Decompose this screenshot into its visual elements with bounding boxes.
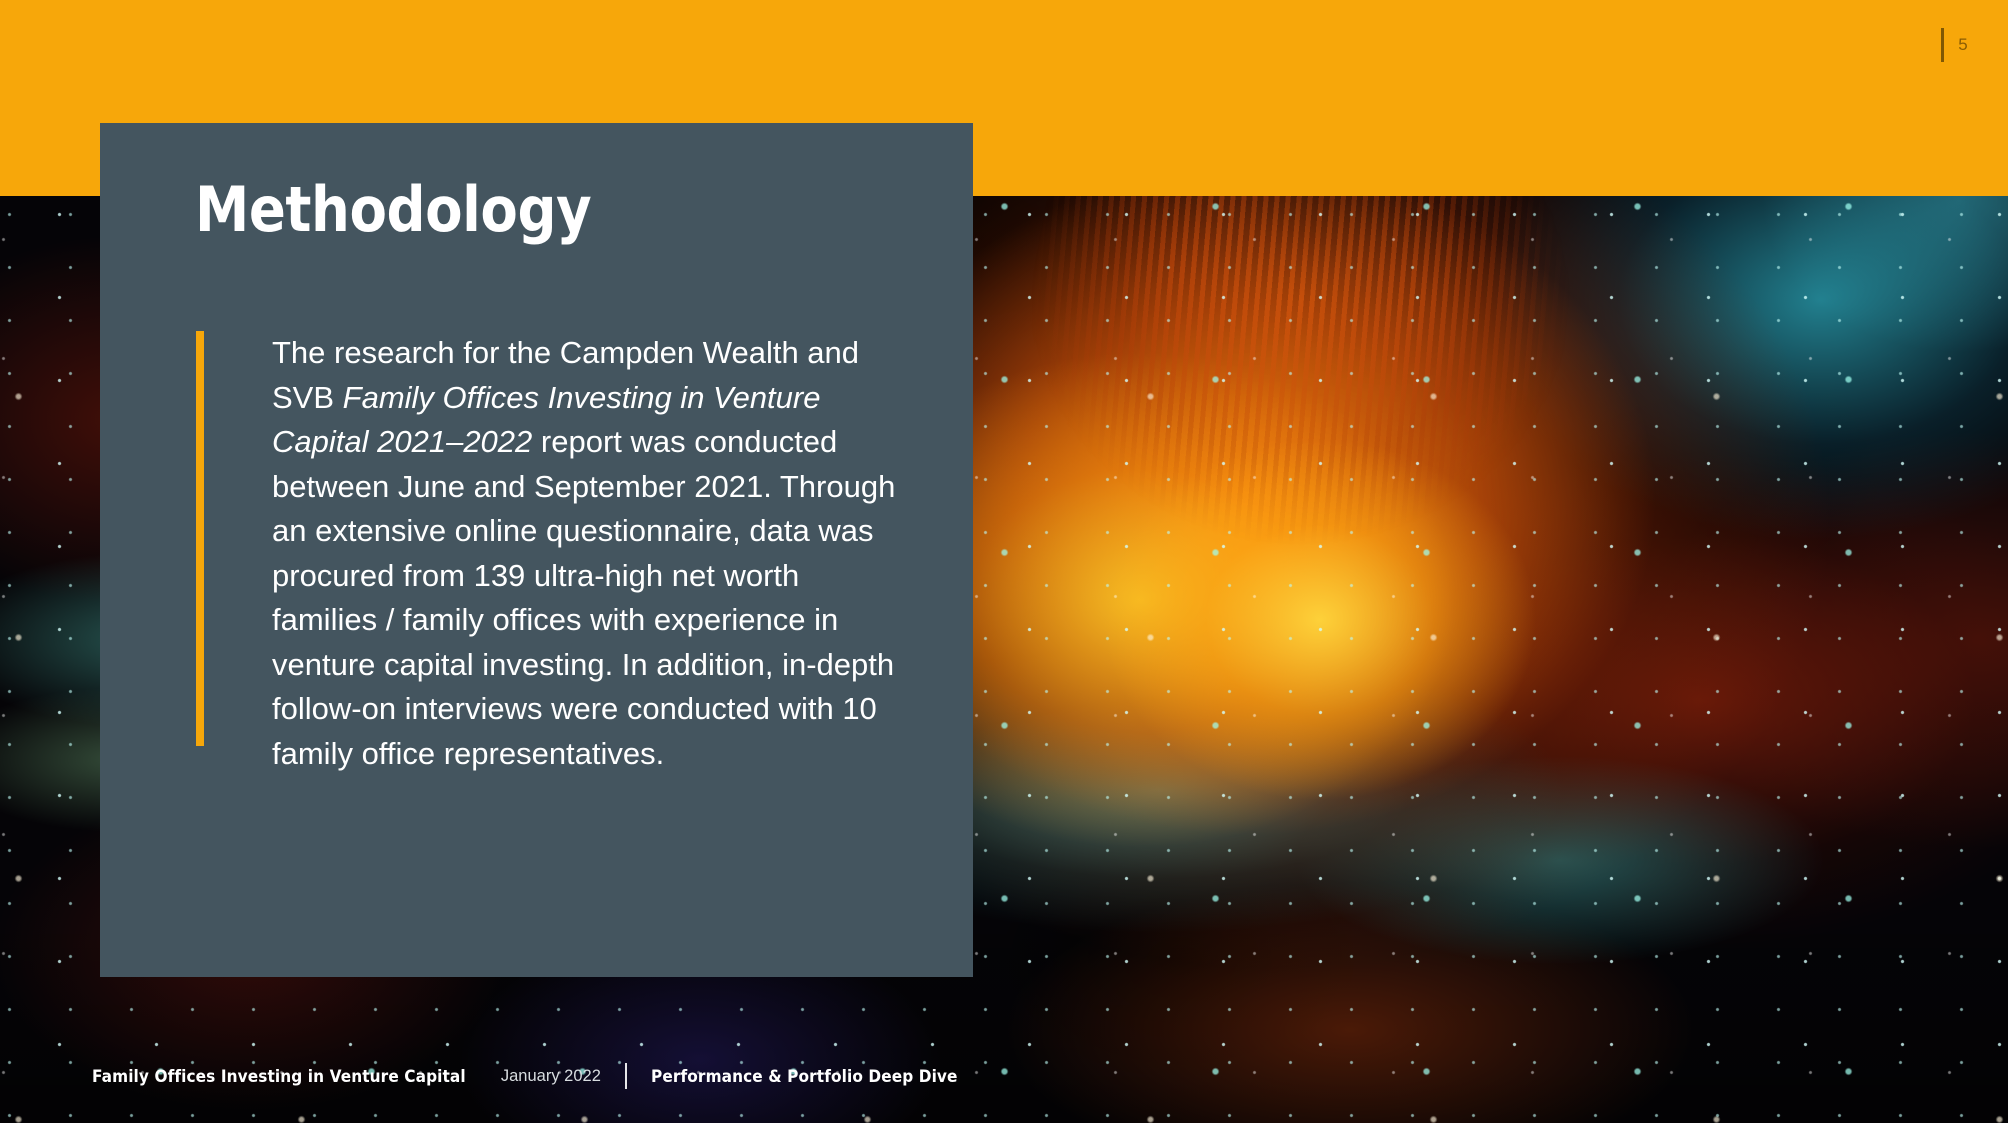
footer-date: January 2022 bbox=[501, 1067, 601, 1086]
footer-divider bbox=[625, 1063, 627, 1089]
accent-bar bbox=[196, 331, 204, 746]
footer: Family Offices Investing in Venture Capi… bbox=[92, 1063, 980, 1089]
page-number: 5 bbox=[1958, 35, 1968, 55]
page-number-divider bbox=[1941, 28, 1944, 62]
presentation-slide: 5 Methodology The research for the Campd… bbox=[0, 0, 2008, 1123]
paragraph-part-2: report was conducted between June and Se… bbox=[272, 424, 895, 771]
methodology-paragraph: The research for the Campden Wealth and … bbox=[272, 331, 912, 776]
body-block: The research for the Campden Wealth and … bbox=[196, 331, 912, 776]
page-number-group: 5 bbox=[1941, 28, 1968, 62]
footer-report-title: Family Offices Investing in Venture Capi… bbox=[92, 1067, 466, 1086]
page-title: Methodology bbox=[195, 173, 591, 246]
footer-section: Performance & Portfolio Deep Dive bbox=[651, 1067, 958, 1086]
content-card: Methodology The research for the Campden… bbox=[100, 123, 973, 977]
